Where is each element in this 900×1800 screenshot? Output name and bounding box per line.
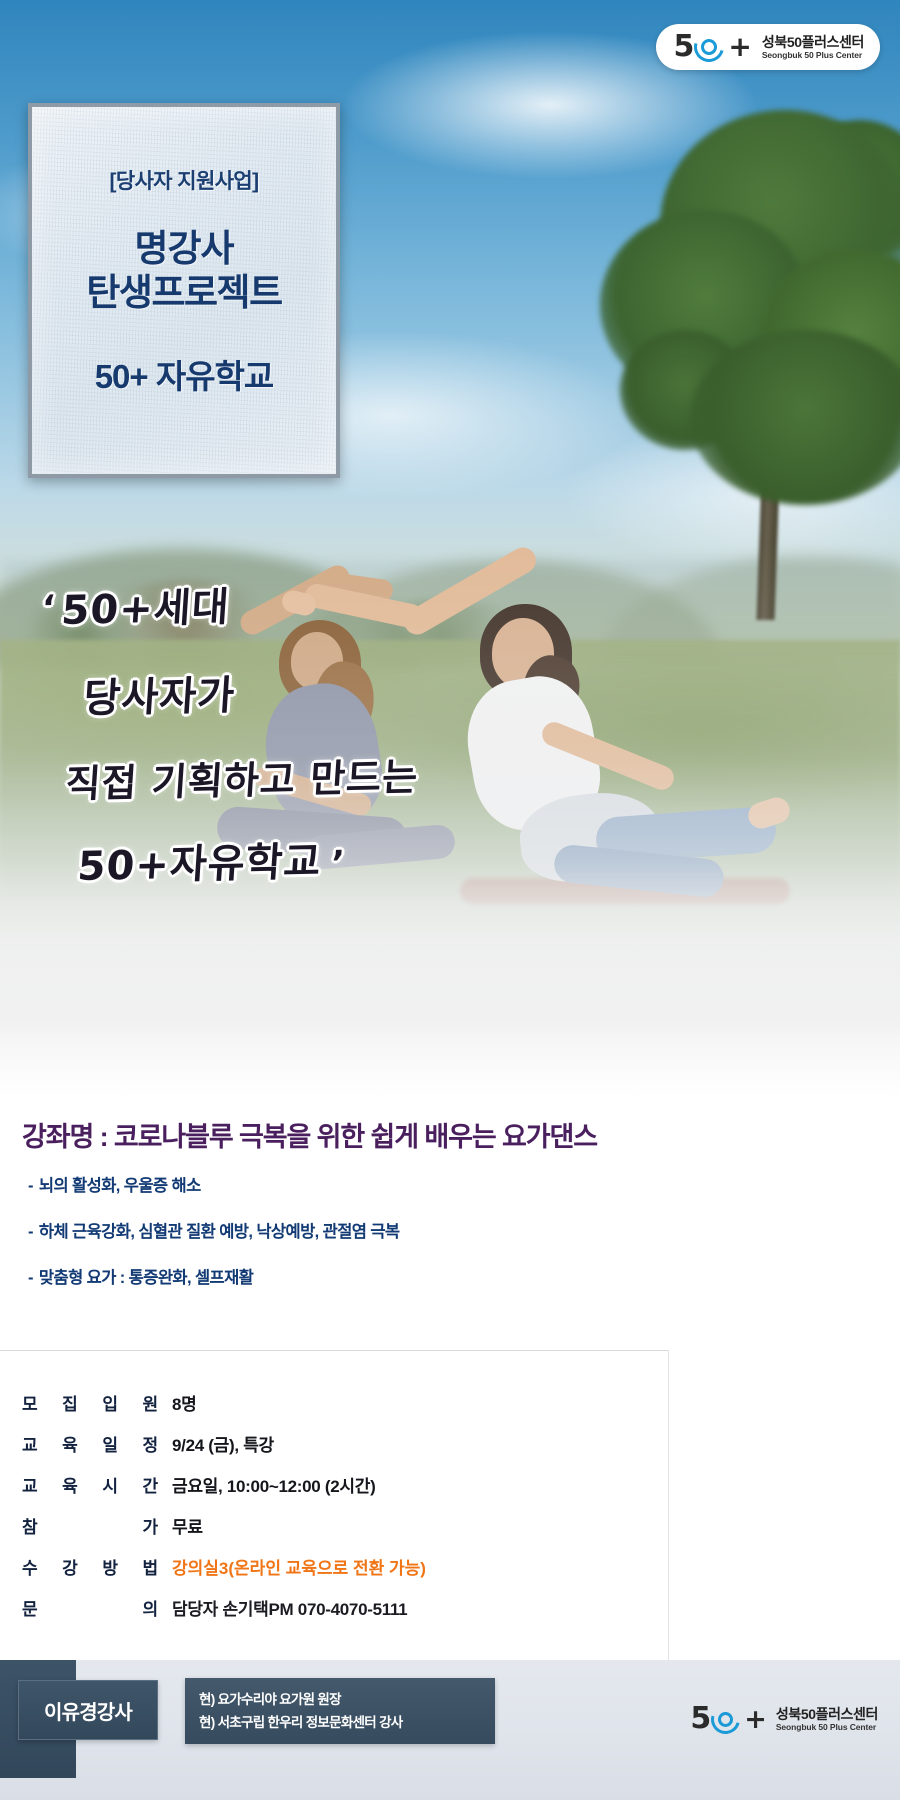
content-section: 강좌명 : 코로나블루 극복을 위한 쉽게 배우는 요가댄스 -뇌의 활성화, … <box>0 1020 900 1660</box>
label-char: 가 <box>143 1513 158 1538</box>
info-label-schedule: 교 육 일 정 <box>22 1423 172 1464</box>
info-value-fee: 무료 <box>172 1505 426 1546</box>
label-char: 방 <box>102 1554 117 1579</box>
logo-digit-five: 5 <box>674 32 694 62</box>
logo-name-ko: 성북50플러스센터 <box>776 1706 878 1722</box>
label-char: 참 <box>22 1513 37 1538</box>
info-value-method: 강의실3(온라인 교육으로 전환 가능) <box>172 1546 426 1587</box>
label-char: 원 <box>143 1390 158 1415</box>
label-char: 강 <box>62 1554 77 1579</box>
quote-line-1-text: 50+세대 <box>60 584 231 634</box>
footer-logo: 5 + 성북50플러스센터 Seongbuk 50 Plus Center <box>690 1704 878 1734</box>
program-tag: [당사자 지원사업] <box>109 165 258 195</box>
instructor-name-badge: 이유경강사 <box>18 1680 158 1740</box>
label-char: 정 <box>143 1431 158 1456</box>
label-char: 교 <box>22 1431 37 1456</box>
plaque-title-line-2: 탄생프로젝트 <box>86 271 281 315</box>
footer-logo-text: 성북50플러스센터 Seongbuk 50 Plus Center <box>776 1706 878 1732</box>
label-char: 간 <box>143 1472 158 1497</box>
fifty-plus-logo-icon: 5 + <box>690 1704 767 1734</box>
quote-line-4-text: 50+자유학교 <box>76 839 323 890</box>
quote-line-2: 당사자가 <box>82 669 561 719</box>
label-char: 시 <box>102 1472 117 1497</box>
bullet-text: 하체 근육강화, 심혈관 질환 예방, 낙상예방, 관절염 극복 <box>39 1223 400 1241</box>
tree-foliage <box>690 330 900 505</box>
bullet-dash: - <box>28 1177 33 1195</box>
label-char: 문 <box>22 1595 37 1620</box>
plaque-title-line-1: 명강사 <box>134 227 233 271</box>
info-label-method: 수 강 방 법 <box>22 1546 172 1587</box>
quote-line-1: ‘50+세대 <box>40 581 561 632</box>
instructor-bio-line-2: 현) 서초구립 한우리 정보문화센터 강사 <box>199 1711 481 1734</box>
quote-line-4: 50+자유학교’ <box>76 837 561 887</box>
label-char: 입 <box>102 1390 117 1415</box>
logo-name-en: Seongbuk 50 Plus Center <box>762 50 864 60</box>
title-plaque: [당사자 지원사업] 명강사 탄생프로젝트 50+ 자유학교 <box>28 103 340 478</box>
info-label-contact: 문 의 <box>22 1587 172 1628</box>
course-info-table: 모 집 입 원 8명 교 육 일 정 9/24 (금), 특강 교 육 시 간 … <box>22 1382 426 1628</box>
poster-root: 5 + 성북50플러스센터 Seongbuk 50 Plus Center [당… <box>0 0 900 1800</box>
info-label-capacity: 모 집 입 원 <box>22 1382 172 1423</box>
section-divider-vertical <box>668 1350 669 1660</box>
label-char: 육 <box>62 1472 77 1497</box>
info-value-contact: 담당자 손기택PM 070-4070-5111 <box>172 1587 426 1628</box>
logo-name-en: Seongbuk 50 Plus Center <box>776 1722 878 1732</box>
info-label-fee: 참 가 <box>22 1505 172 1546</box>
instructor-bio-card: 현) 요가수리야 요가원 원장 현) 서초구립 한우리 정보문화센터 강사 <box>185 1678 495 1744</box>
logo-circle-icon <box>711 1705 740 1734</box>
quote-open-mark: ‘ <box>40 588 57 628</box>
bullet-text: 뇌의 활성화, 우울증 해소 <box>39 1177 201 1195</box>
plaque-title-line-3: 50+ 자유학교 <box>95 350 274 398</box>
course-title: 강좌명 : 코로나블루 극복을 위한 쉽게 배우는 요가댄스 <box>22 1115 597 1154</box>
label-char: 법 <box>143 1554 158 1579</box>
section-divider <box>0 1350 668 1351</box>
info-value-time: 금요일, 10:00~12:00 (2시간) <box>172 1464 426 1505</box>
handwritten-quote: ‘50+세대 당사자가 직접 기획하고 만드는 50+자유학교’ <box>0 560 560 882</box>
instructor-bio-line-1: 현) 요가수리야 요가원 원장 <box>199 1688 481 1711</box>
list-item: -뇌의 활성화, 우울증 해소 <box>28 1172 400 1196</box>
label-char: 일 <box>102 1431 117 1456</box>
label-char: 수 <box>22 1554 37 1579</box>
label-char: 집 <box>62 1390 77 1415</box>
quote-line-3: 직접 기획하고 만드는 <box>64 755 561 803</box>
label-char: 육 <box>62 1431 77 1456</box>
label-char: 모 <box>22 1390 37 1415</box>
header-logo-text: 성북50플러스센터 Seongbuk 50 Plus Center <box>762 34 864 60</box>
fifty-plus-logo-icon: 5 + <box>674 32 752 62</box>
list-item: -맞춤형 요가 : 통증완화, 셀프재활 <box>28 1264 400 1288</box>
bullet-dash: - <box>28 1223 33 1241</box>
logo-name-ko: 성북50플러스센터 <box>762 34 864 50</box>
label-char: 교 <box>22 1472 37 1497</box>
info-label-time: 교 육 시 간 <box>22 1464 172 1505</box>
label-char: 의 <box>143 1595 158 1620</box>
logo-digit-five: 5 <box>690 1704 710 1734</box>
list-item: -하체 근육강화, 심혈관 질환 예방, 낙상예방, 관절염 극복 <box>28 1218 400 1242</box>
course-benefits-list: -뇌의 활성화, 우울증 해소 -하체 근육강화, 심혈관 질환 예방, 낙상예… <box>28 1172 400 1310</box>
info-value-schedule: 9/24 (금), 특강 <box>172 1423 426 1464</box>
header-logo: 5 + 성북50플러스센터 Seongbuk 50 Plus Center <box>656 24 880 70</box>
logo-plus-sign: + <box>728 33 751 61</box>
logo-plus-sign: + <box>744 1706 767 1733</box>
logo-circle-icon <box>694 32 724 62</box>
bullet-dash: - <box>28 1269 33 1287</box>
footer-section: 이유경강사 현) 요가수리야 요가원 원장 현) 서초구립 한우리 정보문화센터… <box>0 1660 900 1800</box>
quote-close-mark: ’ <box>330 843 347 883</box>
info-value-capacity: 8명 <box>172 1382 426 1423</box>
bullet-text: 맞춤형 요가 : 통증완화, 셀프재활 <box>39 1269 253 1287</box>
